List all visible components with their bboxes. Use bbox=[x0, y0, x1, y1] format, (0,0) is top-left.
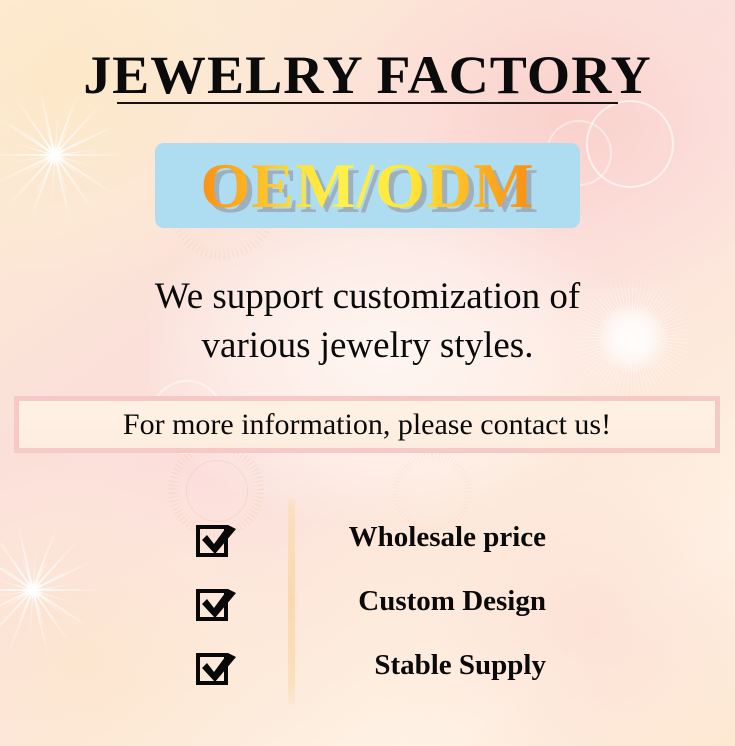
subtitle: We support customization of various jewe… bbox=[60, 272, 675, 370]
list-item: Wholesale price bbox=[0, 513, 735, 577]
oem-odm-badge-label: OEM/ODM bbox=[155, 143, 580, 228]
page-title: JEWELRY FACTORY bbox=[0, 46, 735, 104]
contact-callout-box: For more information, please contact us! bbox=[14, 396, 720, 453]
checkmark-glyph bbox=[198, 651, 238, 687]
checkbox-checked-icon bbox=[196, 651, 236, 687]
list-item: Stable Supply bbox=[0, 641, 735, 705]
subtitle-line-1: We support customization of bbox=[60, 272, 675, 321]
subtitle-line-2: various jewelry styles. bbox=[60, 321, 675, 370]
promo-banner: JEWELRY FACTORY OEM/ODM We support custo… bbox=[0, 0, 735, 746]
feature-list: Wholesale price Custom Design Stable Sup… bbox=[0, 513, 735, 705]
feature-label: Stable Supply bbox=[316, 641, 546, 689]
feature-label: Wholesale price bbox=[316, 513, 546, 561]
checkmark-glyph bbox=[198, 523, 238, 559]
list-item: Custom Design bbox=[0, 577, 735, 641]
title-block: JEWELRY FACTORY bbox=[0, 46, 735, 104]
checkbox-checked-icon bbox=[196, 523, 236, 559]
title-underline bbox=[117, 102, 618, 104]
checkbox-checked-icon bbox=[196, 587, 236, 623]
contact-callout-text: For more information, please contact us! bbox=[19, 401, 715, 448]
feature-label: Custom Design bbox=[316, 577, 546, 625]
oem-odm-badge: OEM/ODM bbox=[155, 143, 580, 228]
checkmark-glyph bbox=[198, 587, 238, 623]
